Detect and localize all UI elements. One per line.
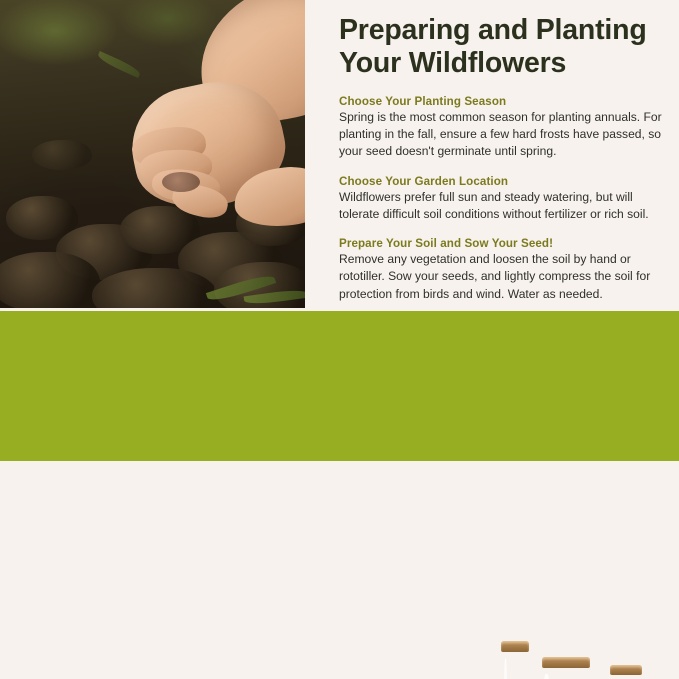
page-title: Preparing and Planting Your Wildflowers bbox=[339, 14, 663, 81]
preparing-and-planting-copy: Preparing and Planting Your Wildflowers … bbox=[339, 14, 663, 303]
hand-planting-seeds-in-soil-photo bbox=[0, 0, 305, 308]
subhead-prepare-soil: Prepare Your Soil and Sow Your Seed! bbox=[339, 237, 663, 250]
infographic-page: Preparing and Planting Your Wildflowers … bbox=[0, 0, 679, 679]
body-prepare-soil: Remove any vegetation and loosen the soi… bbox=[339, 251, 663, 303]
section-preparing-and-planting: Preparing and Planting Your Wildflowers … bbox=[0, 0, 679, 311]
subhead-garden-location: Choose Your Garden Location bbox=[339, 175, 663, 188]
subhead-planting-season: Choose Your Planting Season bbox=[339, 95, 663, 108]
section-what-to-expect: What to Expect When Planting Annuals Ann… bbox=[0, 461, 679, 679]
body-planting-season: Spring is the most common season for pla… bbox=[339, 109, 663, 161]
body-garden-location: Wildflowers prefer full sun and steady w… bbox=[339, 189, 663, 224]
section-storing-your-seeds: Storing Your Seeds Store your seeds in a… bbox=[0, 311, 679, 461]
seeds-in-hand bbox=[162, 172, 200, 192]
